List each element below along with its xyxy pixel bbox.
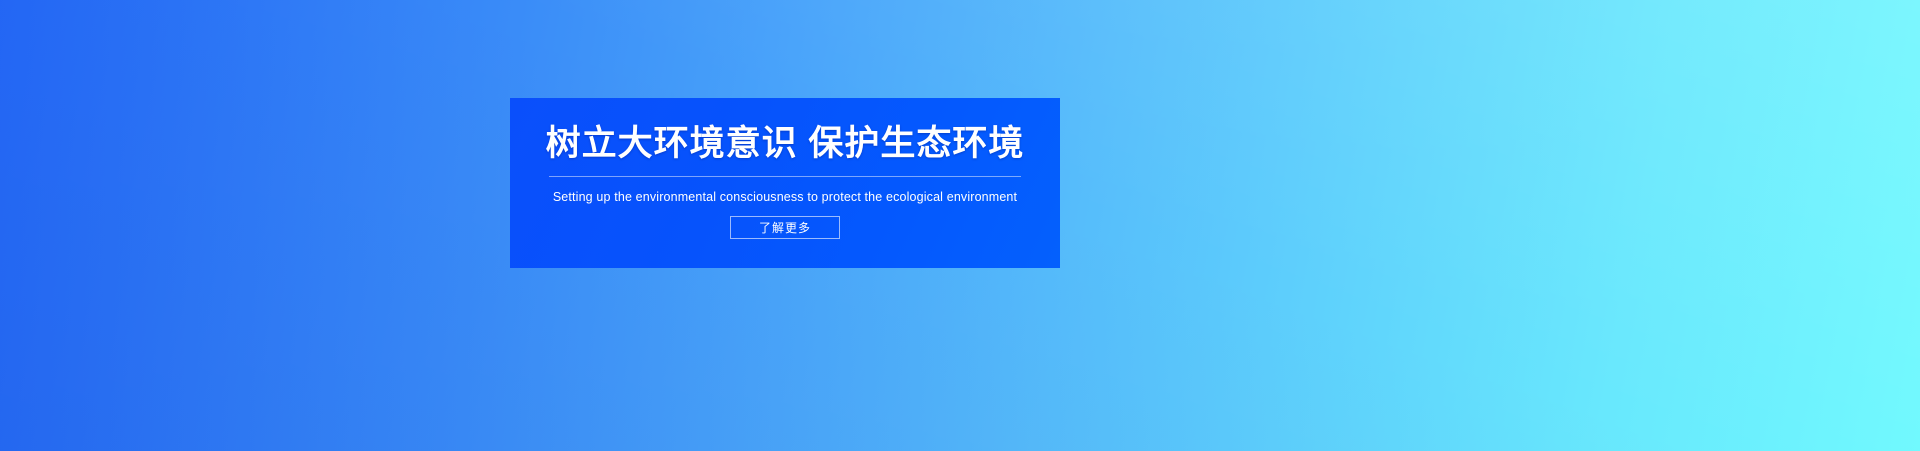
page-title: 树立大环境意识 保护生态环境 — [546, 124, 1025, 163]
hero-card: 树立大环境意识 保护生态环境 Setting up the environmen… — [510, 98, 1060, 268]
learn-more-button[interactable]: 了解更多 — [730, 216, 840, 239]
hero-banner: 树立大环境意识 保护生态环境 Setting up the environmen… — [0, 0, 1920, 451]
hero-subtitle: Setting up the environmental consciousne… — [553, 190, 1017, 204]
title-divider — [549, 176, 1021, 177]
